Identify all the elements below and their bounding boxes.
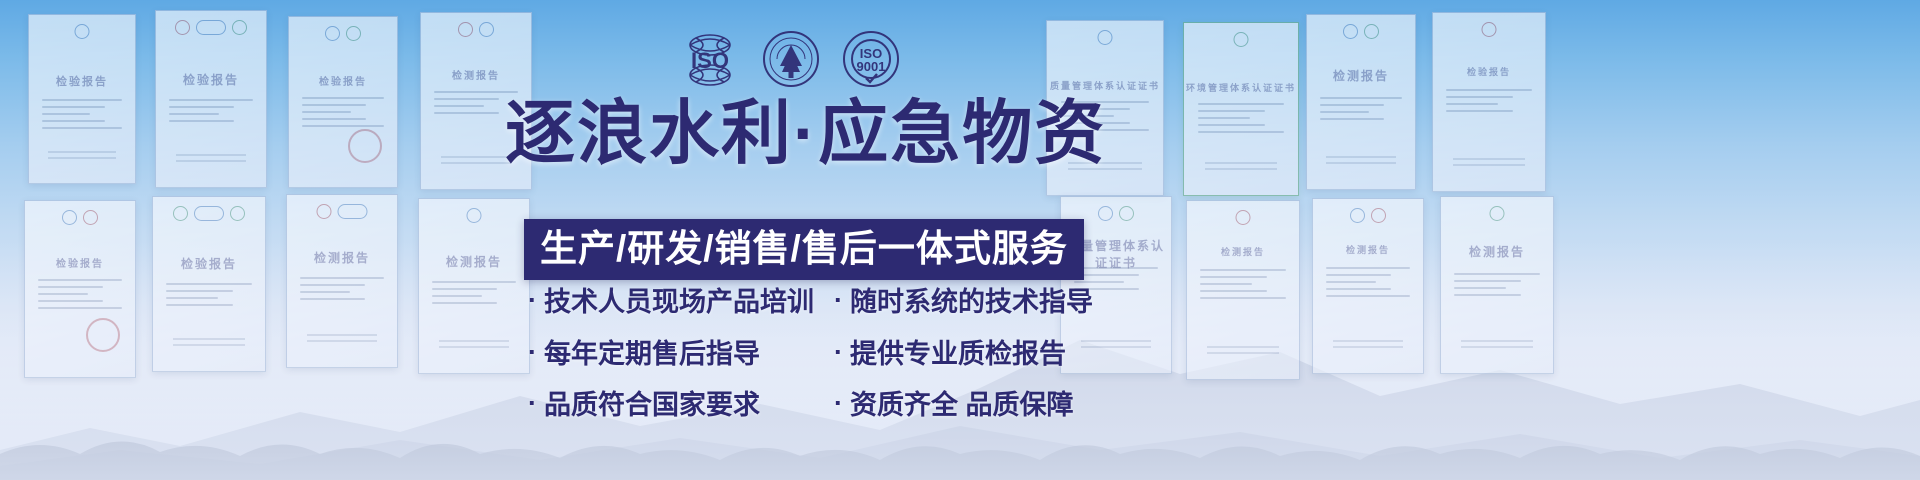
iso14000-environment-badge-icon [762,30,820,88]
certificate-body-lines [1320,97,1402,125]
certificate-footer-lines [307,334,377,346]
feature-bullet-grid: · 技术人员现场产品培训 · 随时系统的技术指导 · 每年定期售后指导 · 提供… [528,288,1093,421]
certificate-body-lines [1446,89,1531,117]
bullet-marker-icon: · [834,390,843,417]
certificate-seal-group [1490,206,1505,221]
seal-icon [467,208,482,223]
certificate-seal-group [1098,30,1113,45]
feature-bullet: · 技术人员现场产品培训 [528,288,816,318]
certificate-footer-lines [1453,158,1525,170]
certificate-card: 检验报告 [152,196,266,372]
certificate-card: 检验报告 [288,16,398,188]
certificate-seal-group [75,24,90,39]
certificate-title: 检验报告 [153,255,265,272]
certificate-body-lines [1326,267,1410,302]
seal-icon [1343,24,1358,39]
certificate-title: 检测报告 [1313,243,1423,256]
seal-icon [1490,206,1505,221]
seal-icon [346,26,361,41]
certificate-body-lines [1200,269,1285,304]
certificate-title: 检验报告 [156,71,266,88]
certificate-body-lines [300,277,384,305]
bullet-marker-icon: · [528,287,537,314]
iso-globe-badge-icon: ISO [680,31,740,87]
certificate-title: 质量管理体系认证证书 [1047,79,1163,92]
certificate-body-lines [302,97,384,132]
svg-text:ISO: ISO [691,48,729,73]
red-stamp-icon [86,318,120,352]
seal-icon [1371,208,1386,223]
seal-icon [1364,24,1379,39]
certificate-body-lines [1454,273,1539,301]
seal-icon [175,20,190,35]
certificate-title: 检验报告 [29,73,135,89]
certificate-footer-lines [1207,346,1279,358]
certificate-card: 检验报告 [24,200,136,378]
seal-icon [1119,206,1134,221]
feature-bullet-label: 资质齐全 品质保障 [850,391,1074,421]
banner-root: 检验报告 检验报告 检验报告 [0,0,1920,480]
seal-icon [1482,22,1497,37]
feature-bullet: · 随时系统的技术指导 [834,288,1093,318]
certificate-title: 检验报告 [1433,65,1545,78]
certificate-title: 检测报告 [419,253,529,270]
iso9001-quality-badge-icon: ISO 9001 [842,30,900,88]
certificate-footer-lines [441,156,511,168]
certificate-title: 检验报告 [25,255,135,270]
certificate-title: 检测报告 [287,249,397,266]
feature-bullet-label: 每年定期售后指导 [544,340,760,370]
bullet-marker-icon: · [528,339,537,366]
certificate-seal-group [1236,210,1251,225]
seal-icon [458,22,473,37]
seal-icon [62,210,77,225]
banner-subtitle-bar: 生产/研发/销售/售后一体式服务 [524,219,1084,280]
certificate-footer-lines [48,151,116,163]
seal-icon [338,204,368,219]
certificate-footer-lines [1461,340,1533,352]
seal-icon [479,22,494,37]
certificate-card: 检验报告 [155,10,267,188]
bullet-marker-icon: · [834,287,843,314]
certificate-seal-group [1350,208,1386,223]
seal-icon [317,204,332,219]
bullet-marker-icon: · [834,339,843,366]
seal-icon [194,206,224,221]
feature-bullet: · 资质齐全 品质保障 [834,391,1093,421]
seal-icon [75,24,90,39]
certificate-card: 检测报告 [1440,196,1554,374]
certificate-card: 检测报告 [1306,14,1416,190]
seal-icon [232,20,247,35]
certificate-title: 检测报告 [1187,245,1299,258]
certificate-body-lines [38,279,122,314]
feature-bullet-label: 提供专业质检报告 [850,340,1066,370]
feature-bullet-label: 技术人员现场产品培训 [544,288,814,318]
feature-bullet: · 每年定期售后指导 [528,340,816,370]
certificate-card: 检测报告 [1312,198,1424,374]
certificate-card: 检验报告 [1432,12,1546,192]
certificate-seal-group [175,20,247,35]
certificate-card: 检测报告 [1186,200,1300,380]
certificate-footer-lines [1333,340,1403,352]
seal-icon [83,210,98,225]
feature-bullet: · 提供专业质检报告 [834,340,1093,370]
certificate-card: 检测报告 [286,194,398,368]
certificate-footer-lines [176,154,246,166]
certificate-title: 检验报告 [289,73,397,88]
certificate-footer-lines [439,340,509,352]
certificate-seal-group [1098,206,1134,221]
certificate-seal-group [317,204,368,219]
certificate-seal-group [1234,32,1249,47]
certificate-footer-lines [1205,162,1278,174]
banner-headline: 逐浪水利·应急物资 [505,98,1106,168]
seal-icon [1098,206,1113,221]
feature-bullet-label: 随时系统的技术指导 [850,288,1093,318]
certificate-body-lines [166,283,251,311]
certificate-footer-lines [173,338,245,350]
certificate-title: 环境管理体系认证证书 [1184,81,1298,94]
certificate-seal-group [173,206,245,221]
bullet-marker-icon: · [528,390,537,417]
seal-icon [1236,210,1251,225]
seal-icon [1098,30,1113,45]
seal-icon [1350,208,1365,223]
certificate-title: 检测报告 [1307,67,1415,84]
certificate-body-lines [42,99,123,134]
seal-icon [196,20,226,35]
certificate-seal-group [458,22,494,37]
feature-bullet-label: 品质符合国家要求 [544,391,760,421]
certificate-body-lines [1198,103,1285,138]
certificate-title: 检测报告 [1441,243,1553,260]
certificate-card: 检测报告 [418,198,530,374]
certificate-seal-group [325,26,361,41]
certificate-body-lines [432,281,516,309]
seal-icon [325,26,340,41]
svg-text:9001: 9001 [857,59,886,74]
certificate-title: 检测报告 [421,67,531,82]
certificate-card: 检验报告 [28,14,136,184]
certificate-body-lines [169,99,253,127]
certificate-seal-group [467,208,482,223]
seal-icon [1234,32,1249,47]
feature-bullet: · 品质符合国家要求 [528,391,816,421]
certificate-seal-group [62,210,98,225]
certificate-footer-lines [1326,156,1395,168]
red-stamp-icon [348,129,382,163]
certificate-card-green: 环境管理体系认证证书 [1183,22,1299,196]
certificate-seal-group [1482,22,1497,37]
certificate-seal-group [1343,24,1379,39]
seal-icon [173,206,188,221]
seal-icon [230,206,245,221]
certification-badge-row: ISO ISO 9001 [680,28,900,90]
